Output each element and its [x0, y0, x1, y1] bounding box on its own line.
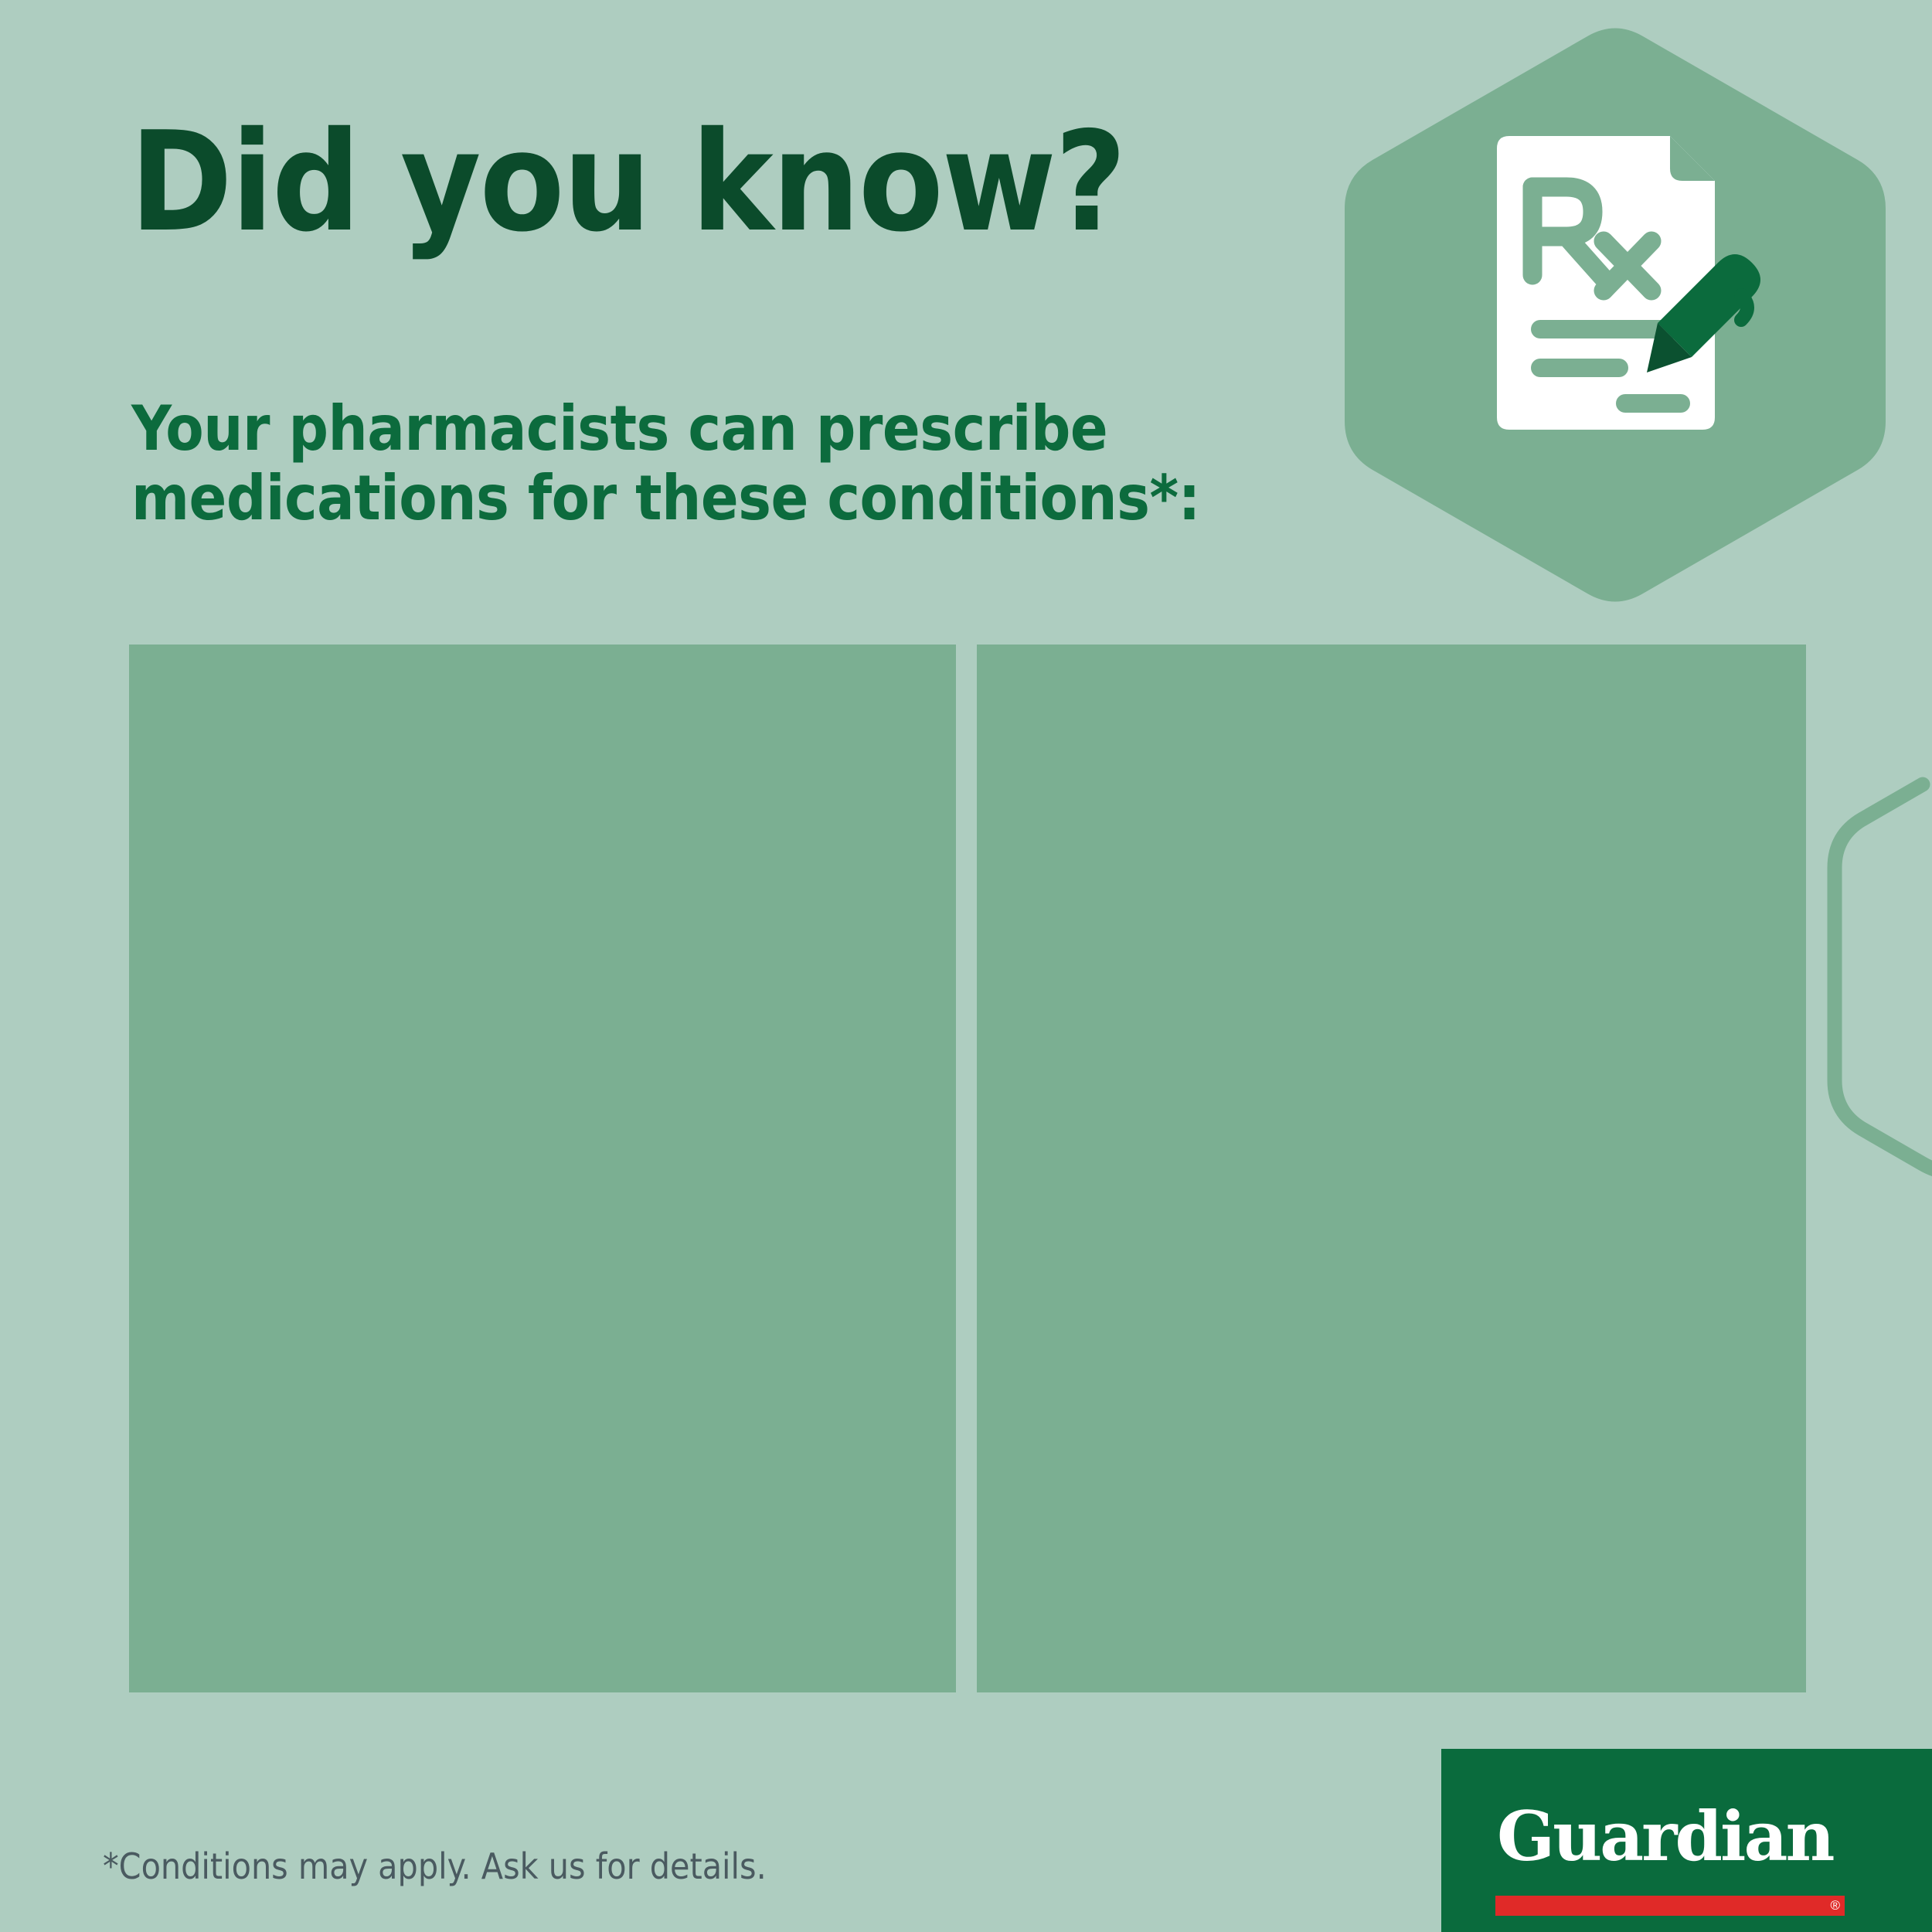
guardian-red-rule: ® — [1495, 1896, 1845, 1916]
registered-trademark-icon: ® — [1830, 1899, 1840, 1913]
page-title: Did you know? — [130, 112, 1289, 253]
page-subtitle-line-1: Your pharmacists can prescribe — [131, 394, 1337, 464]
hexagon-outline-decoration — [1835, 607, 1932, 1172]
signature-line — [1616, 394, 1690, 413]
paper-line-2 — [1531, 359, 1628, 377]
conditions-panel-left — [129, 645, 956, 1692]
page-subtitle-line-2: medications for these conditions*: — [131, 464, 1337, 533]
conditions-panel-right — [977, 645, 1806, 1692]
rx-prescription-pen-icon — [1486, 131, 1764, 440]
guardian-logo: Guardian ® — [1441, 1749, 1932, 1932]
page-subtitle: Your pharmacists can prescribe medicatio… — [131, 394, 1337, 532]
guardian-wordmark: Guardian — [1497, 1811, 1883, 1862]
disclaimer-text: *Conditions may apply. Ask us for detail… — [103, 1847, 767, 1886]
paper-fold-corner — [1670, 136, 1715, 181]
poster-canvas: Did you know? Your pharmacists can presc… — [0, 0, 1932, 1932]
conditions-panels — [129, 645, 1806, 1692]
